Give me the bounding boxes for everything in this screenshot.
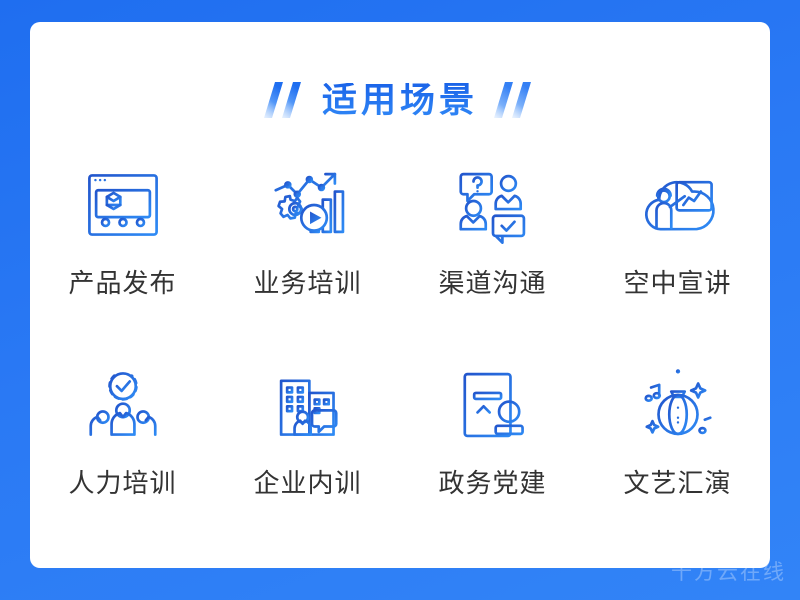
scene-item-product-launch[interactable]: 产品发布 <box>30 162 215 362</box>
scene-label: 产品发布 <box>68 270 176 296</box>
product-launch-icon <box>80 162 166 248</box>
scene-item-hr-training[interactable]: 人力培训 <box>30 362 215 562</box>
content-card: 适用场景 <box>30 22 770 568</box>
scene-label: 文艺汇演 <box>623 470 731 496</box>
scene-item-government-party[interactable]: 政务党建 <box>400 362 585 562</box>
arts-performance-icon <box>635 362 721 448</box>
scene-item-online-presentation[interactable]: 空中宣讲 <box>585 162 770 362</box>
scene-label: 业务培训 <box>253 270 361 296</box>
scene-grid: 产品发布 <box>30 162 770 562</box>
scene-label: 政务党建 <box>438 470 546 496</box>
page-title: 适用场景 <box>322 83 478 118</box>
business-training-icon <box>265 162 351 248</box>
scene-label: 空中宣讲 <box>623 270 731 296</box>
double-slash-right-icon <box>492 78 538 122</box>
scene-label: 渠道沟通 <box>438 270 546 296</box>
scene-item-corporate-training[interactable]: 企业内训 <box>215 362 400 562</box>
channel-communication-icon <box>450 162 536 248</box>
page-title-block: 适用场景 <box>30 70 770 130</box>
page-root: 适用场景 <box>0 0 800 600</box>
scene-label: 人力培训 <box>68 470 176 496</box>
hr-training-icon <box>80 362 166 448</box>
double-slash-left-icon <box>262 78 308 122</box>
scene-label: 企业内训 <box>253 470 361 496</box>
online-presentation-icon <box>635 162 721 248</box>
scene-item-channel-communication[interactable]: 渠道沟通 <box>400 162 585 362</box>
corporate-training-icon <box>265 362 351 448</box>
scene-item-arts-performance[interactable]: 文艺汇演 <box>585 362 770 562</box>
scene-item-business-training[interactable]: 业务培训 <box>215 162 400 362</box>
government-party-icon <box>450 362 536 448</box>
